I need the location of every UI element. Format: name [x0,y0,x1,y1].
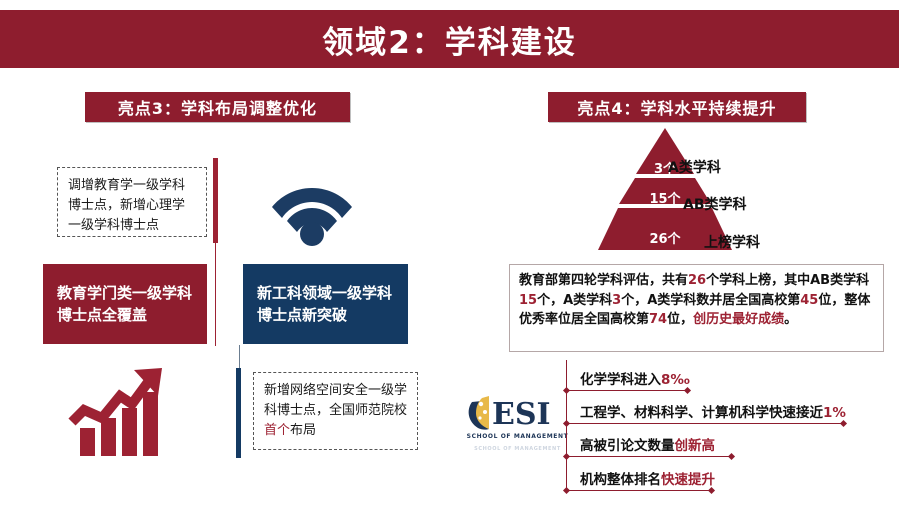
note-box-education-doctoral: 调增教育学一级学科博士点，新增心理学一级学科博士点 [57,167,207,237]
slide-canvas: 领域2：学科建设 亮点3：学科布局调整优化 亮点4：学科水平持续提升 调增教育学… [0,0,899,505]
esi-subtitle: SCHOOL OF MANAGEMENT [465,433,570,440]
bullet-2-text: 工程学、材料科学、计算机科学快速接近 [580,405,823,421]
bullet-dot-1b [684,387,691,394]
pyramid-label-ab-category: AB类学科 [683,194,747,214]
bullet-dot-4a [563,487,570,494]
pyramid-tier-top-count: 3个 [580,158,750,177]
bullet-line-4 [566,490,712,491]
connector-red-thick [213,158,218,243]
section-title-left: 亮点3：学科布局调整优化 [85,92,350,122]
connector-navy-thin [239,345,240,369]
bullet-dot-2b [840,420,847,427]
bullet-4-highlight: 快速提升 [661,472,715,488]
growth-chart-icon [68,366,168,458]
para-num-45: 45 [800,293,818,308]
esi-achievement-list: 化学学科进入8‰ 工程学、材料科学、计算机科学快速接近1% 高被引论文数量创新高… [566,360,896,496]
para-num-15: 15 [519,293,537,308]
connector-navy-thick [236,368,241,458]
bullet-dot-3b [728,453,735,460]
para-seg-7: 。 [784,312,797,327]
connector-red-thin [215,243,216,346]
note-text-prefix: 新增网络空间安全一级学科博士点，全国师范院校 [264,383,407,418]
para-seg-4: 个，A类学科数并居全国高校第 [621,293,800,308]
bullet-item-2: 工程学、材料科学、计算机科学快速接近1% [580,401,846,421]
highlight-box-education-coverage: 教育学门类一级学科博士点全覆盖 [43,264,207,344]
para-seg-1: 教育部第四轮学科评估，共有 [519,273,688,288]
para-seg-3: 个，A类学科 [537,293,612,308]
note-text-suffix: 布局 [290,423,316,438]
bullet-line-1 [566,390,688,391]
note-text-highlight: 首个 [264,423,290,438]
bullet-1-text: 化学学科进入 [580,372,661,388]
para-seg-2: 个学科上榜，其中AB类学科 [706,273,869,288]
pyramid-label-a-category: A类学科 [668,157,721,177]
bullet-3-highlight: 创新高 [675,438,716,454]
bullet-item-3: 高被引论文数量创新高 [580,434,715,454]
bullet-2-highlight: 1% [823,405,846,421]
section-title-right: 亮点4：学科水平持续提升 [548,92,806,122]
pyramid-label-listed: 上榜学科 [704,232,760,252]
highlight-box-new-engineering: 新工科领域一级学科博士点新突破 [243,264,408,344]
bullet-dot-4b [708,487,715,494]
bullet-3-text: 高被引论文数量 [580,438,675,454]
note-box-cyberspace-security: 新增网络空间安全一级学科博士点，全国师范院校首个布局 [253,372,418,450]
para-num-74: 74 [649,312,667,327]
esi-subtitle-shadow: SCHOOL OF MANAGEMENT [465,446,570,452]
svg-text:ESI: ESI [492,397,551,432]
page-title: 领域2：学科建设 [322,17,577,62]
bullet-item-4: 机构整体排名快速提升 [580,468,715,488]
bullet-1-highlight: 8‰ [661,372,690,388]
wifi-icon [268,168,356,246]
bullet-item-1: 化学学科进入8‰ [580,368,690,388]
bullet-line-2 [566,423,844,424]
para-num-26: 26 [688,273,706,288]
para-highlight-best-record: 创历史最好成绩 [693,312,784,327]
bullet-dot-3a [563,453,570,460]
bullet-line-3 [566,456,732,457]
para-num-3: 3 [612,293,621,308]
bullet-4-text: 机构整体排名 [580,472,661,488]
para-seg-6: 位， [667,312,693,327]
evaluation-summary-box: 教育部第四轮学科评估，共有26个学科上榜，其中AB类学科15个，A类学科3个，A… [509,264,884,352]
header-banner: 领域2：学科建设 [0,10,899,68]
